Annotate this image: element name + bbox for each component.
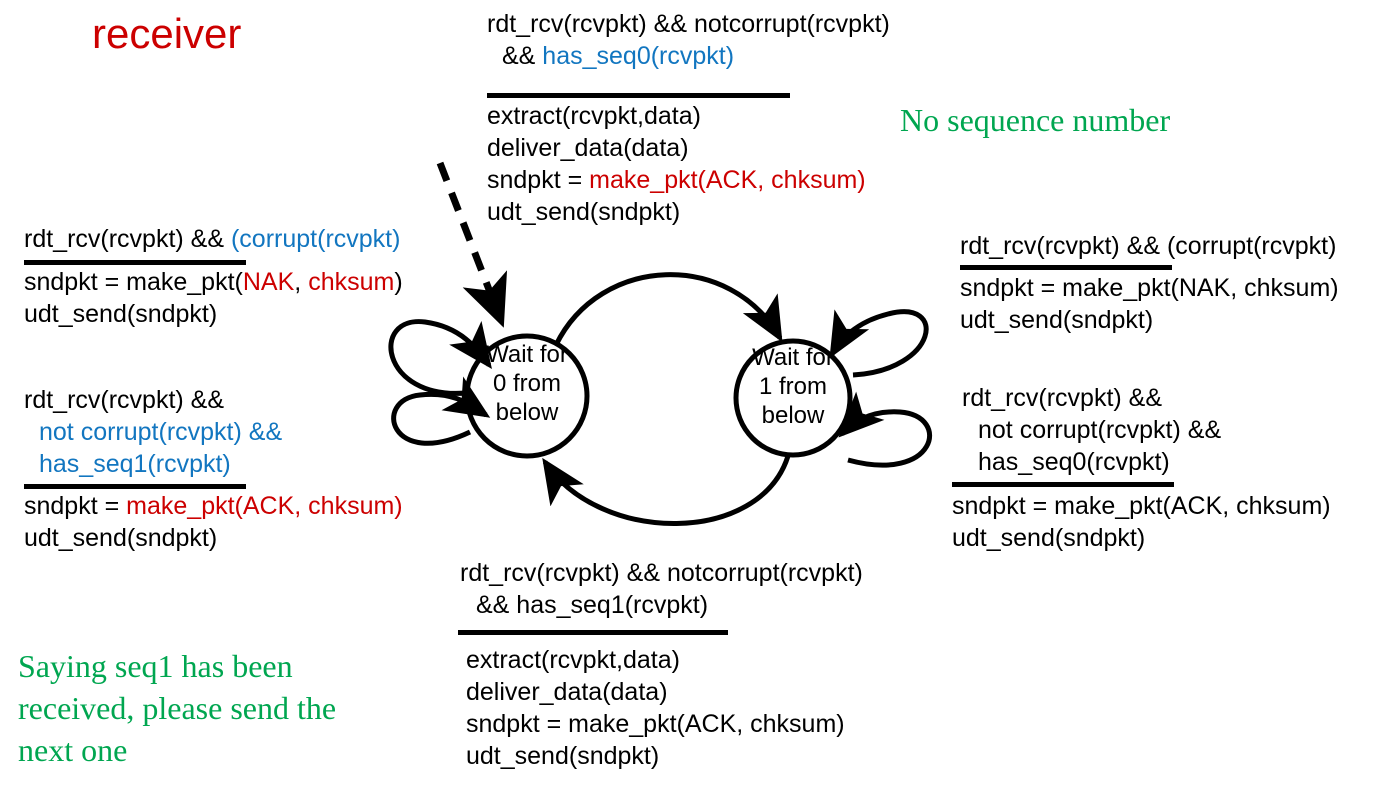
note-no-sequence-number: No sequence number: [900, 99, 1170, 141]
bottom-action-line3: sndpkt = make_pkt(ACK, chksum): [466, 708, 845, 740]
note-seq1-line1: Saying seq1 has been: [18, 648, 293, 684]
left-lower-condition-line2: not corrupt(rcvpkt) &&: [39, 416, 282, 448]
bottom-action-line2: deliver_data(data): [466, 676, 668, 708]
bottom-action-line1: extract(rcvpkt,data): [466, 644, 680, 676]
right-lower-divider-rule: [952, 482, 1174, 487]
left-lower-action-line2: udt_send(sndpkt): [24, 522, 217, 554]
right-lower-action-line1: sndpkt = make_pkt(ACK, chksum): [952, 490, 1331, 522]
state-label-wait0-line2: 0 from: [493, 370, 561, 397]
right-upper-action-line1: sndpkt = make_pkt(NAK, chksum): [960, 272, 1339, 304]
top-action-line4: udt_send(sndpkt): [487, 196, 680, 228]
fsm-diagram-canvas: receiver rdt_rcv(rcvpkt) && notcorrupt(r…: [0, 0, 1392, 812]
arc-wait1-to-wait0: [545, 456, 788, 524]
note-seq1-line3: next one: [18, 732, 127, 768]
state-label-wait1-line2: 1 from: [759, 373, 827, 400]
top-condition-line2-prefix: &&: [502, 42, 542, 70]
state-label-wait1-line3: below: [762, 402, 825, 429]
right-upper-action-line2: udt_send(sndpkt): [960, 304, 1153, 336]
state-label-wait0: Wait for 0 from below: [467, 340, 587, 427]
left-upper-condition: rdt_rcv(rcvpkt) && (corrupt(rcvpkt): [24, 223, 400, 255]
state-label-wait1-line1: Wait for: [752, 344, 834, 371]
page-title: receiver: [92, 8, 241, 60]
bottom-condition-line1: rdt_rcv(rcvpkt) && notcorrupt(rcvpkt): [460, 557, 863, 589]
left-upper-action-nak: NAK: [243, 268, 294, 296]
right-lower-action-line2: udt_send(sndpkt): [952, 522, 1145, 554]
top-action-line3-prefix: sndpkt =: [487, 166, 589, 194]
note-seq1-line2: received, please send the: [18, 690, 336, 726]
top-action-line1: extract(rcvpkt,data): [487, 100, 701, 132]
left-upper-condition-corrupt: (corrupt(rcvpkt): [231, 225, 400, 253]
left-lower-action-prefix: sndpkt =: [24, 492, 126, 520]
right-lower-condition-line1: rdt_rcv(rcvpkt) &&: [962, 382, 1162, 414]
top-action-line3-makepkt: make_pkt(ACK, chksum): [589, 166, 865, 194]
bottom-action-line4: udt_send(sndpkt): [466, 740, 659, 772]
top-divider-rule: [487, 93, 790, 98]
top-condition-line2: && has_seq0(rcvpkt): [502, 40, 734, 72]
top-condition-line1: rdt_rcv(rcvpkt) && notcorrupt(rcvpkt): [487, 8, 890, 40]
left-upper-action-paren: ): [394, 268, 402, 296]
state-label-wait0-line3: below: [496, 399, 559, 426]
top-condition-line2-hasseq0: has_seq0(rcvpkt): [542, 42, 734, 70]
self-loop-wait1-lower: [842, 412, 930, 465]
state-label-wait0-line1: Wait for: [486, 341, 568, 368]
right-lower-condition-line3: has_seq0(rcvpkt): [978, 446, 1170, 478]
arc-wait0-to-wait1: [556, 275, 780, 345]
left-lower-condition-line3: has_seq1(rcvpkt): [39, 448, 231, 480]
left-lower-condition-line1: rdt_rcv(rcvpkt) &&: [24, 384, 224, 416]
right-upper-divider-rule: [960, 265, 1172, 270]
left-upper-action-chksum: chksum: [308, 268, 394, 296]
bottom-condition-line2: && has_seq1(rcvpkt): [476, 589, 708, 621]
note-seq1-received: Saying seq1 has been received, please se…: [18, 645, 336, 771]
left-lower-action-line1: sndpkt = make_pkt(ACK, chksum): [24, 490, 403, 522]
left-lower-action-makepkt: make_pkt(ACK, chksum): [126, 492, 402, 520]
left-lower-divider-rule: [24, 484, 246, 489]
top-action-line2: deliver_data(data): [487, 132, 689, 164]
left-upper-action-line2: udt_send(sndpkt): [24, 298, 217, 330]
state-label-wait1: Wait for 1 from below: [733, 343, 853, 430]
top-action-line3: sndpkt = make_pkt(ACK, chksum): [487, 164, 866, 196]
bottom-divider-rule: [458, 630, 728, 635]
right-lower-condition-line2: not corrupt(rcvpkt) &&: [978, 414, 1221, 446]
left-upper-condition-prefix: rdt_rcv(rcvpkt) &&: [24, 225, 231, 253]
left-upper-action-line1: sndpkt = make_pkt(NAK, chksum): [24, 266, 403, 298]
right-upper-condition: rdt_rcv(rcvpkt) && (corrupt(rcvpkt): [960, 230, 1336, 262]
left-upper-action-prefix: sndpkt = make_pkt(: [24, 268, 243, 296]
left-upper-divider-rule: [24, 260, 246, 265]
left-upper-action-comma: ,: [294, 268, 308, 296]
